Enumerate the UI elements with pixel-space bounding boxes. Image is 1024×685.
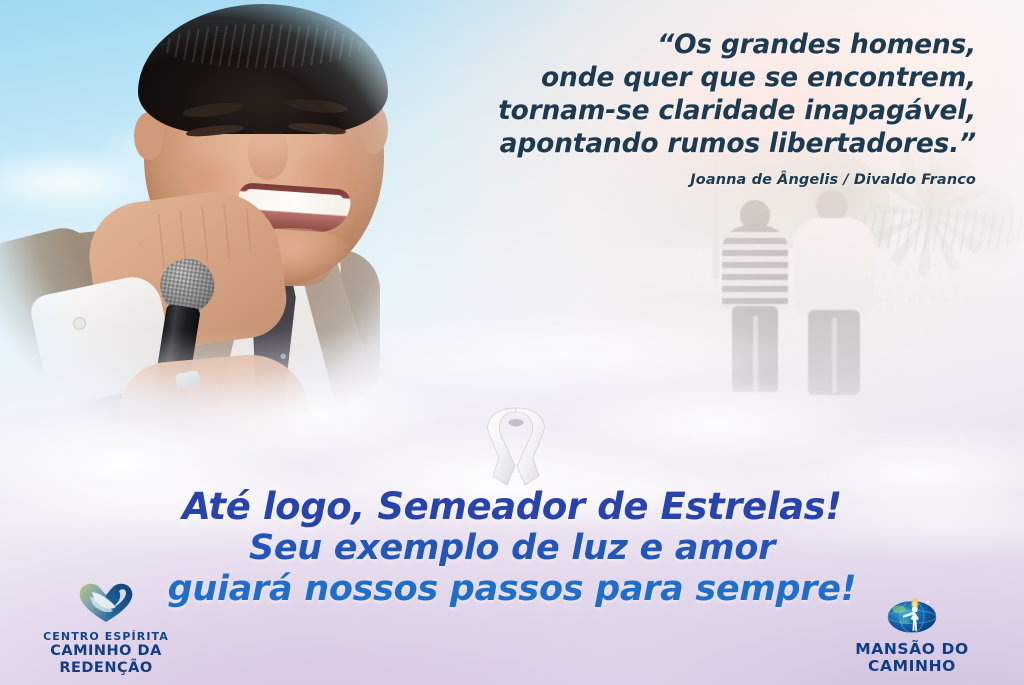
- quote-attribution: Joanna de Ângelis / Divaldo Franco: [336, 172, 976, 188]
- quote-line-1: “Os grandes homens,: [336, 28, 976, 61]
- portrait-bottom-fade: [0, 330, 470, 480]
- logo-mansao-do-caminho-label: MANSÃO DO CAMINHO: [812, 641, 1012, 675]
- portrait-cuff-button: [74, 318, 85, 329]
- headline-line-2: Seu exemplo de luz e amor: [0, 528, 1024, 569]
- quote-line-3: tornam-se claridade inapagável,: [336, 94, 976, 127]
- quote-line-2: onde quer que se encontrem,: [336, 61, 976, 94]
- headline-line-1: Até logo, Semeador de Estrelas!: [0, 486, 1024, 528]
- logo-centro-espirita-line-1: CENTRO ESPÍRITA: [8, 630, 204, 643]
- quote-line-4: apontando rumos libertadores.”: [336, 127, 976, 160]
- portrait-nose: [248, 128, 288, 180]
- heart-hands-logo-icon: [8, 580, 204, 628]
- logo-centro-espirita-line-2: CAMINHO DA REDENÇÃO: [8, 643, 204, 677]
- quote-block: “Os grandes homens, onde quer que se enc…: [336, 28, 976, 160]
- logo-mansao-do-caminho: MANSÃO DO CAMINHO: [812, 595, 1012, 675]
- logo-centro-espirita: CENTRO ESPÍRITA CAMINHO DA REDENÇÃO: [8, 580, 204, 677]
- memorial-poster: “Os grandes homens, onde quer que se enc…: [0, 0, 1024, 685]
- globe-figure-logo-icon: [812, 595, 1012, 639]
- white-mourning-ribbon-icon: [477, 406, 555, 486]
